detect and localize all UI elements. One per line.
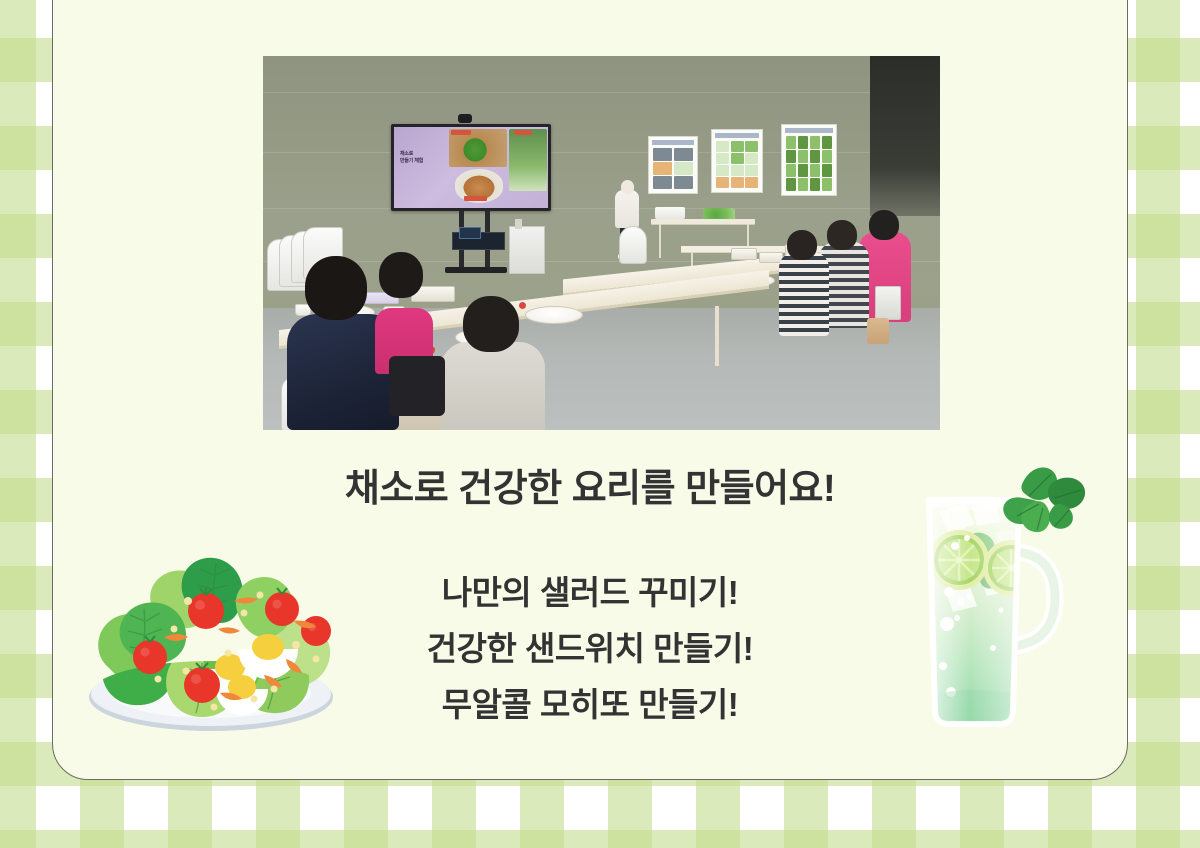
chair [619,226,647,264]
presenter-head [621,180,634,194]
mug-contents [925,502,1039,726]
wall-poster-title [785,128,833,133]
wall-poster-title [652,140,694,145]
wall-poster [648,136,698,194]
mojito-illustration [905,460,1087,736]
laptop [459,227,481,239]
salad-illustration [78,547,344,742]
trash-bin [875,286,901,320]
participant-head [305,256,367,320]
tomato-garnish [519,302,526,309]
wall-poster-grid [716,141,758,188]
wall-poster-title [715,133,759,138]
presenter-body [615,190,639,228]
tv-camera [458,114,472,123]
wall-poster-grid [653,148,693,189]
poster-canvas: 채소로 만들기 체험 [0,0,1200,848]
slide-drink-photo [509,129,547,191]
plate [525,306,583,324]
wall-seam [263,92,940,93]
supply-box [731,248,757,260]
slide-tag [464,196,487,201]
table-leg [715,306,719,366]
slide-title: 채소로 만들기 체험 [400,151,445,165]
supply-stack [655,207,685,219]
table-leg [659,224,661,258]
slide-tag [451,130,471,135]
wall-poster [711,129,763,193]
participant-body [441,342,545,430]
slide-tag [514,130,532,135]
wall-poster [781,124,837,196]
back-table [651,219,755,224]
participant-head [787,230,817,260]
cabinet-item [515,219,522,229]
participant-head [463,296,519,352]
mint-garnish [1003,468,1085,533]
participant-head [869,210,899,240]
participant-legs [389,356,445,416]
wall-poster-grid [786,136,832,191]
storage-cabinet [509,226,545,274]
event-photo: 채소로 만들기 체험 [263,56,940,430]
participant-body [779,252,829,336]
participant-head [827,220,857,250]
photo-dark-column [870,56,940,216]
participant-head [379,252,423,298]
cherry-tomato [301,616,331,646]
wall-seam [263,208,940,209]
bag [867,318,889,344]
poster-card: 채소로 만들기 체험 [52,0,1128,780]
wall-seam [263,152,940,153]
tv-stand-base [445,267,507,273]
